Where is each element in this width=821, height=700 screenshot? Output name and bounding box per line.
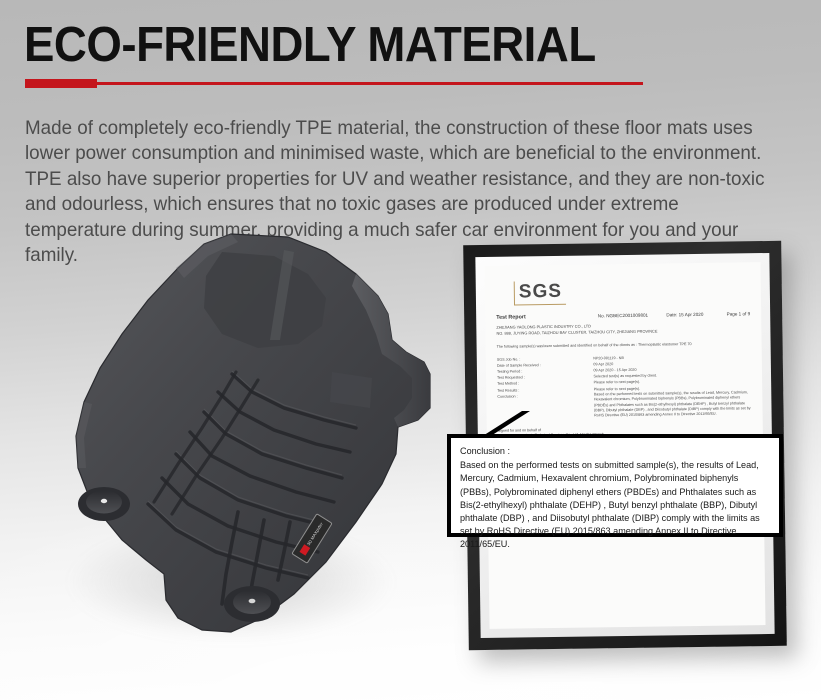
- callout-title: Conclusion :: [460, 445, 770, 458]
- page-title: ECO-FRIENDLY MATERIAL: [24, 17, 596, 73]
- detail-row-conclusion: Conclusion : Based on the performed test…: [497, 390, 751, 421]
- badge-accent: [299, 545, 310, 556]
- sample-intro: The following sample(s) was/were submitt…: [497, 341, 751, 350]
- rule-thick-segment: [25, 79, 97, 88]
- client-address: ZHEJIANG YAOLONG PLASTIC INDUSTRY CO., L…: [496, 321, 750, 337]
- callout-text: Based on the performed tests on submitte…: [460, 459, 770, 551]
- promo-banner: ECO-FRIENDLY MATERIAL Made of completely…: [0, 0, 821, 700]
- report-number: No. NGBEC2001009801: [598, 312, 667, 318]
- rule-thin-segment: [95, 82, 643, 85]
- mat-illustration: [26, 222, 456, 652]
- retention-socket: [78, 487, 130, 521]
- detail-key: Conclusion :: [497, 392, 594, 420]
- conclusion-callout: Conclusion : Based on the performed test…: [447, 434, 783, 537]
- report-details-table: SGS Job No. : NP20-001119 - NB Date of S…: [497, 353, 752, 421]
- detail-value: Based on the performed tests on submitte…: [594, 390, 752, 419]
- report-title: Test Report: [496, 313, 598, 320]
- report-page: Page 1 of 9: [720, 311, 751, 316]
- sgs-logo: SGS: [514, 281, 566, 306]
- report-header-row: Test Report No. NGBEC2001009801 Date: 15…: [496, 311, 750, 321]
- floor-mat-image: 3D MAXpider: [26, 222, 456, 652]
- title-underline-rule: [25, 79, 643, 88]
- retention-socket: [224, 586, 280, 622]
- report-date: Date: 15 Apr 2020: [666, 312, 719, 318]
